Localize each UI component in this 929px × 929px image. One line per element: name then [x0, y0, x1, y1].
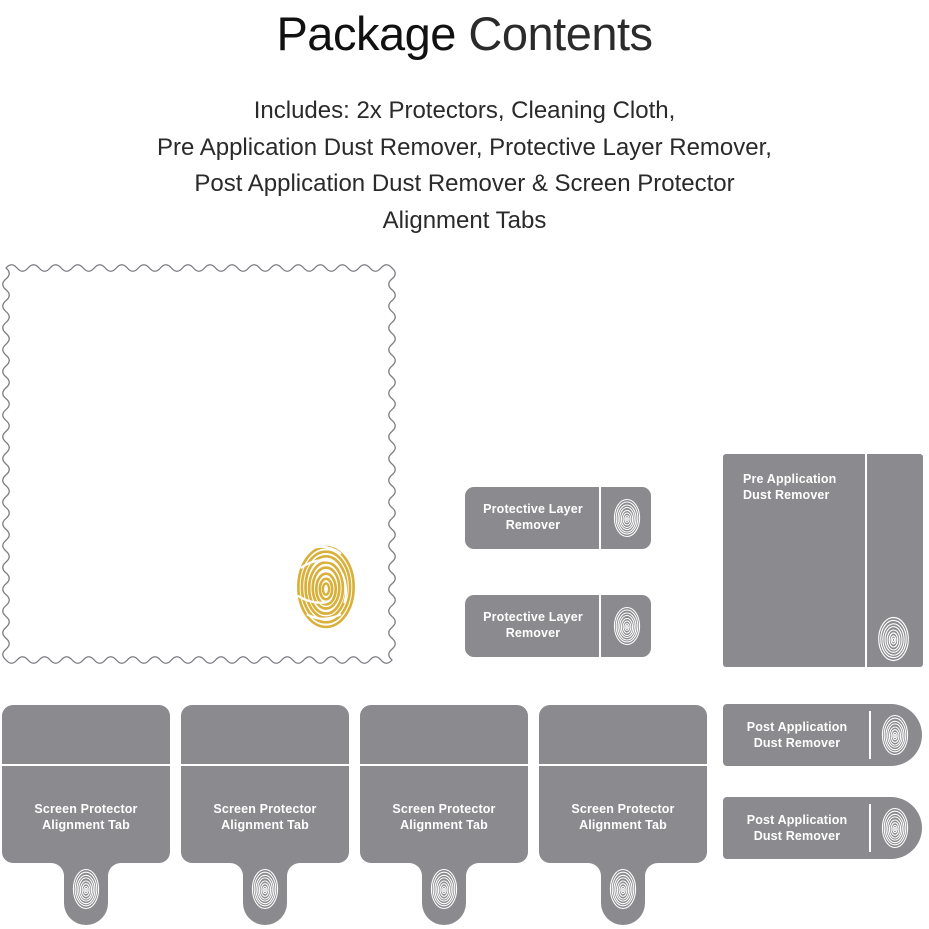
- fingerprint-icon: [609, 868, 637, 910]
- divider: [599, 487, 601, 549]
- screen-protector-alignment-tab-2: Screen Protector Alignment Tab: [181, 703, 349, 929]
- fingerprint-icon-gold: [295, 543, 357, 631]
- description-line-2: Pre Application Dust Remover, Protective…: [0, 130, 929, 167]
- screen-protector-alignment-tab-4: Screen Protector Alignment Tab: [539, 703, 707, 929]
- screen-protector-alignment-tab-1-label: Screen Protector Alignment Tab: [2, 801, 170, 833]
- screen-protector-alignment-tab-2-label: Screen Protector Alignment Tab: [181, 801, 349, 833]
- page-title-bold: Package: [276, 7, 455, 60]
- description-line-4: Alignment Tabs: [0, 203, 929, 240]
- description-line-1: Includes: 2x Protectors, Cleaning Cloth,: [0, 93, 929, 130]
- protective-layer-remover-1-label: Protective Layer Remover: [465, 501, 601, 533]
- page-title-light-space: [456, 7, 469, 60]
- pre-application-dust-remover: Pre Application Dust Remover: [723, 454, 923, 667]
- post-application-dust-remover-1: Post Application Dust Remover: [723, 704, 922, 766]
- protective-layer-remover-1: Protective Layer Remover: [465, 487, 651, 549]
- fingerprint-icon: [430, 868, 458, 910]
- divider: [869, 711, 871, 759]
- fingerprint-icon: [877, 616, 910, 662]
- fingerprint-icon: [881, 807, 909, 849]
- screen-protector-alignment-tab-3-label: Screen Protector Alignment Tab: [360, 801, 528, 833]
- page-title-light: Contents: [468, 7, 652, 60]
- post-application-dust-remover-2: Post Application Dust Remover: [723, 797, 922, 859]
- fingerprint-icon: [613, 606, 641, 646]
- fingerprint-icon: [251, 868, 279, 910]
- protective-layer-remover-2-label: Protective Layer Remover: [465, 609, 601, 641]
- post-application-dust-remover-1-label: Post Application Dust Remover: [723, 719, 871, 751]
- pre-application-dust-remover-label: Pre Application Dust Remover: [743, 471, 836, 503]
- divider: [869, 804, 871, 852]
- fingerprint-icon: [881, 714, 909, 756]
- page-title: Package Contents: [0, 0, 929, 64]
- screen-protector-alignment-tab-1: Screen Protector Alignment Tab: [2, 703, 170, 929]
- header: Package Contents: [0, 0, 929, 64]
- fingerprint-icon: [613, 498, 641, 538]
- description-line-3: Post Application Dust Remover & Screen P…: [0, 166, 929, 203]
- divider: [599, 595, 601, 657]
- fingerprint-icon: [72, 868, 100, 910]
- package-description: Includes: 2x Protectors, Cleaning Cloth,…: [0, 93, 929, 239]
- screen-protector-alignment-tab-3: Screen Protector Alignment Tab: [360, 703, 528, 929]
- screen-protector-alignment-tab-4-label: Screen Protector Alignment Tab: [539, 801, 707, 833]
- divider: [865, 454, 867, 667]
- protective-layer-remover-2: Protective Layer Remover: [465, 595, 651, 657]
- post-application-dust-remover-2-label: Post Application Dust Remover: [723, 812, 871, 844]
